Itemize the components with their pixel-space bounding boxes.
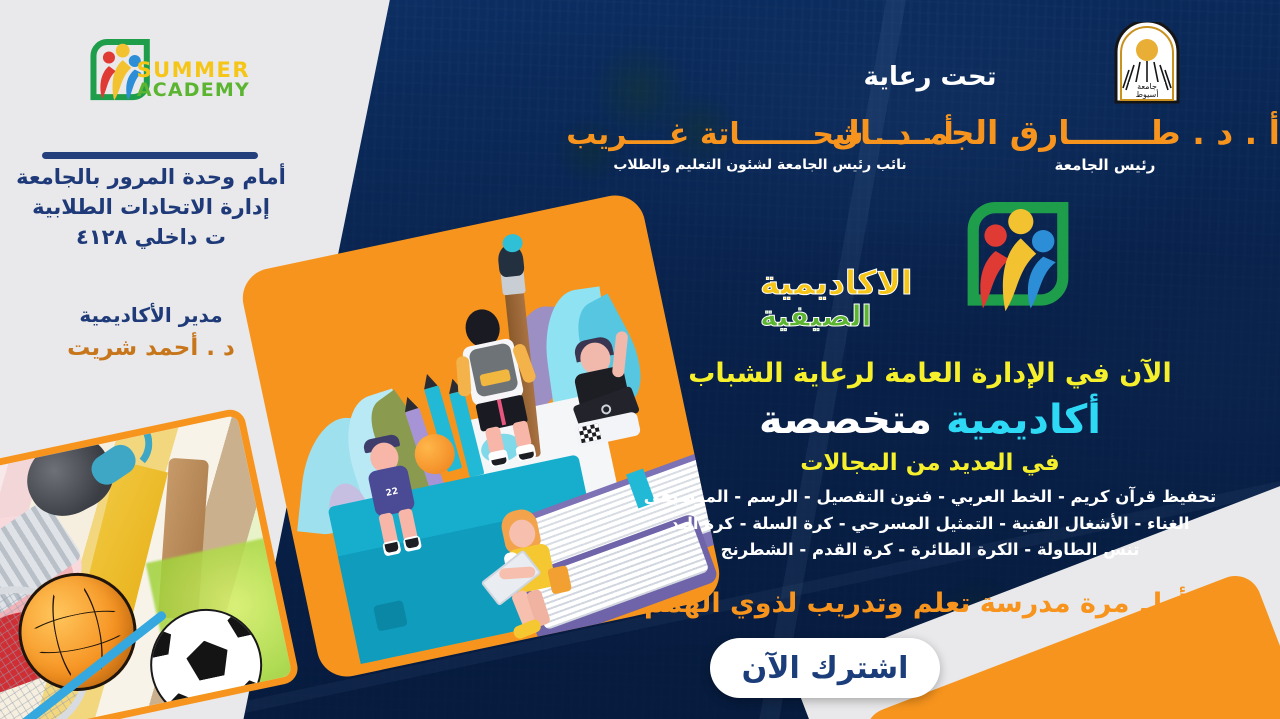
sponsor-name: أ . د . شحـــــــاتة غــــريب [500, 118, 1020, 153]
specialized-word-2: متخصصة [759, 397, 932, 443]
address-line-1: أمام وحدة المرور بالجامعة [6, 163, 296, 193]
poster-canvas: SUMMER ACADEMY أمام وحدة المرور بالجامعة… [0, 0, 1280, 719]
summer-academy-wordmark: SUMMER ACADEMY [138, 60, 250, 100]
summer-academy-mark-icon-large [948, 188, 1088, 328]
right-content-column: جامعة أسيوط تحت رعاية أ . د . طـــــــار… [600, 0, 1280, 719]
special-needs-note: ولأول مرة مدرسة تعلم وتدريب لذوي الهمم [600, 588, 1260, 619]
activities-list: تحفيظ قرآن كريم - الخط العربي - فنون الت… [600, 484, 1260, 564]
left-info-column: SUMMER ACADEMY أمام وحدة المرور بالجامعة… [0, 0, 300, 719]
specialized-word-1: أكاديمية [946, 397, 1101, 443]
address-line-3: ت داخلي ٤١٢٨ [6, 223, 296, 253]
now-at-line: الآن في الإدارة العامة لرعاية الشباب [600, 358, 1260, 389]
sponsor-vice-rector: أ . د . شحـــــــاتة غــــريب نائب رئيس … [500, 118, 1020, 173]
director-label: مدير الأكاديمية [6, 300, 296, 330]
summer-word: SUMMER [138, 60, 250, 81]
divider-rule [42, 152, 258, 159]
subscribe-now-button[interactable]: اشترك الآن [710, 638, 940, 698]
activities-line: الغناء - الأشغال الفنية - التمثيل المسرح… [600, 511, 1260, 538]
summer-academy-arabic-logo: الاكاديمية الصيفية [760, 188, 1120, 348]
summer-academy-logo: SUMMER ACADEMY [78, 30, 248, 125]
specialized-academy-line: أكاديمية متخصصة [600, 398, 1260, 442]
address-line-2: إدارة الاتحادات الطلابية [6, 193, 296, 223]
academy-arabic-word-2: الصيفية [760, 301, 960, 331]
sponsor-role: نائب رئيس الجامعة لشئون التعليم والطلاب [500, 157, 1020, 173]
academy-word: ACADEMY [138, 81, 250, 100]
under-patronage-label: تحت رعاية [600, 62, 1260, 92]
address-block: أمام وحدة المرور بالجامعة إدارة الاتحادا… [6, 163, 296, 252]
activities-line: تحفيظ قرآن كريم - الخط العربي - فنون الت… [600, 484, 1260, 511]
director-name: د . أحمد شريت [6, 330, 296, 367]
director-block: مدير الأكاديمية د . أحمد شريت [6, 300, 296, 367]
sponsors-row: أ . د . طـــــــارق الجمـــــال رئيس الج… [600, 108, 1280, 194]
academy-arabic-word-1: الاكاديمية [760, 266, 960, 301]
activities-line: تنس الطاولة - الكرة الطائرة - كرة القدم … [600, 537, 1260, 564]
academy-arabic-wordmark: الاكاديمية الصيفية [760, 266, 960, 331]
fields-line: في العديد من المجالات [600, 450, 1260, 476]
